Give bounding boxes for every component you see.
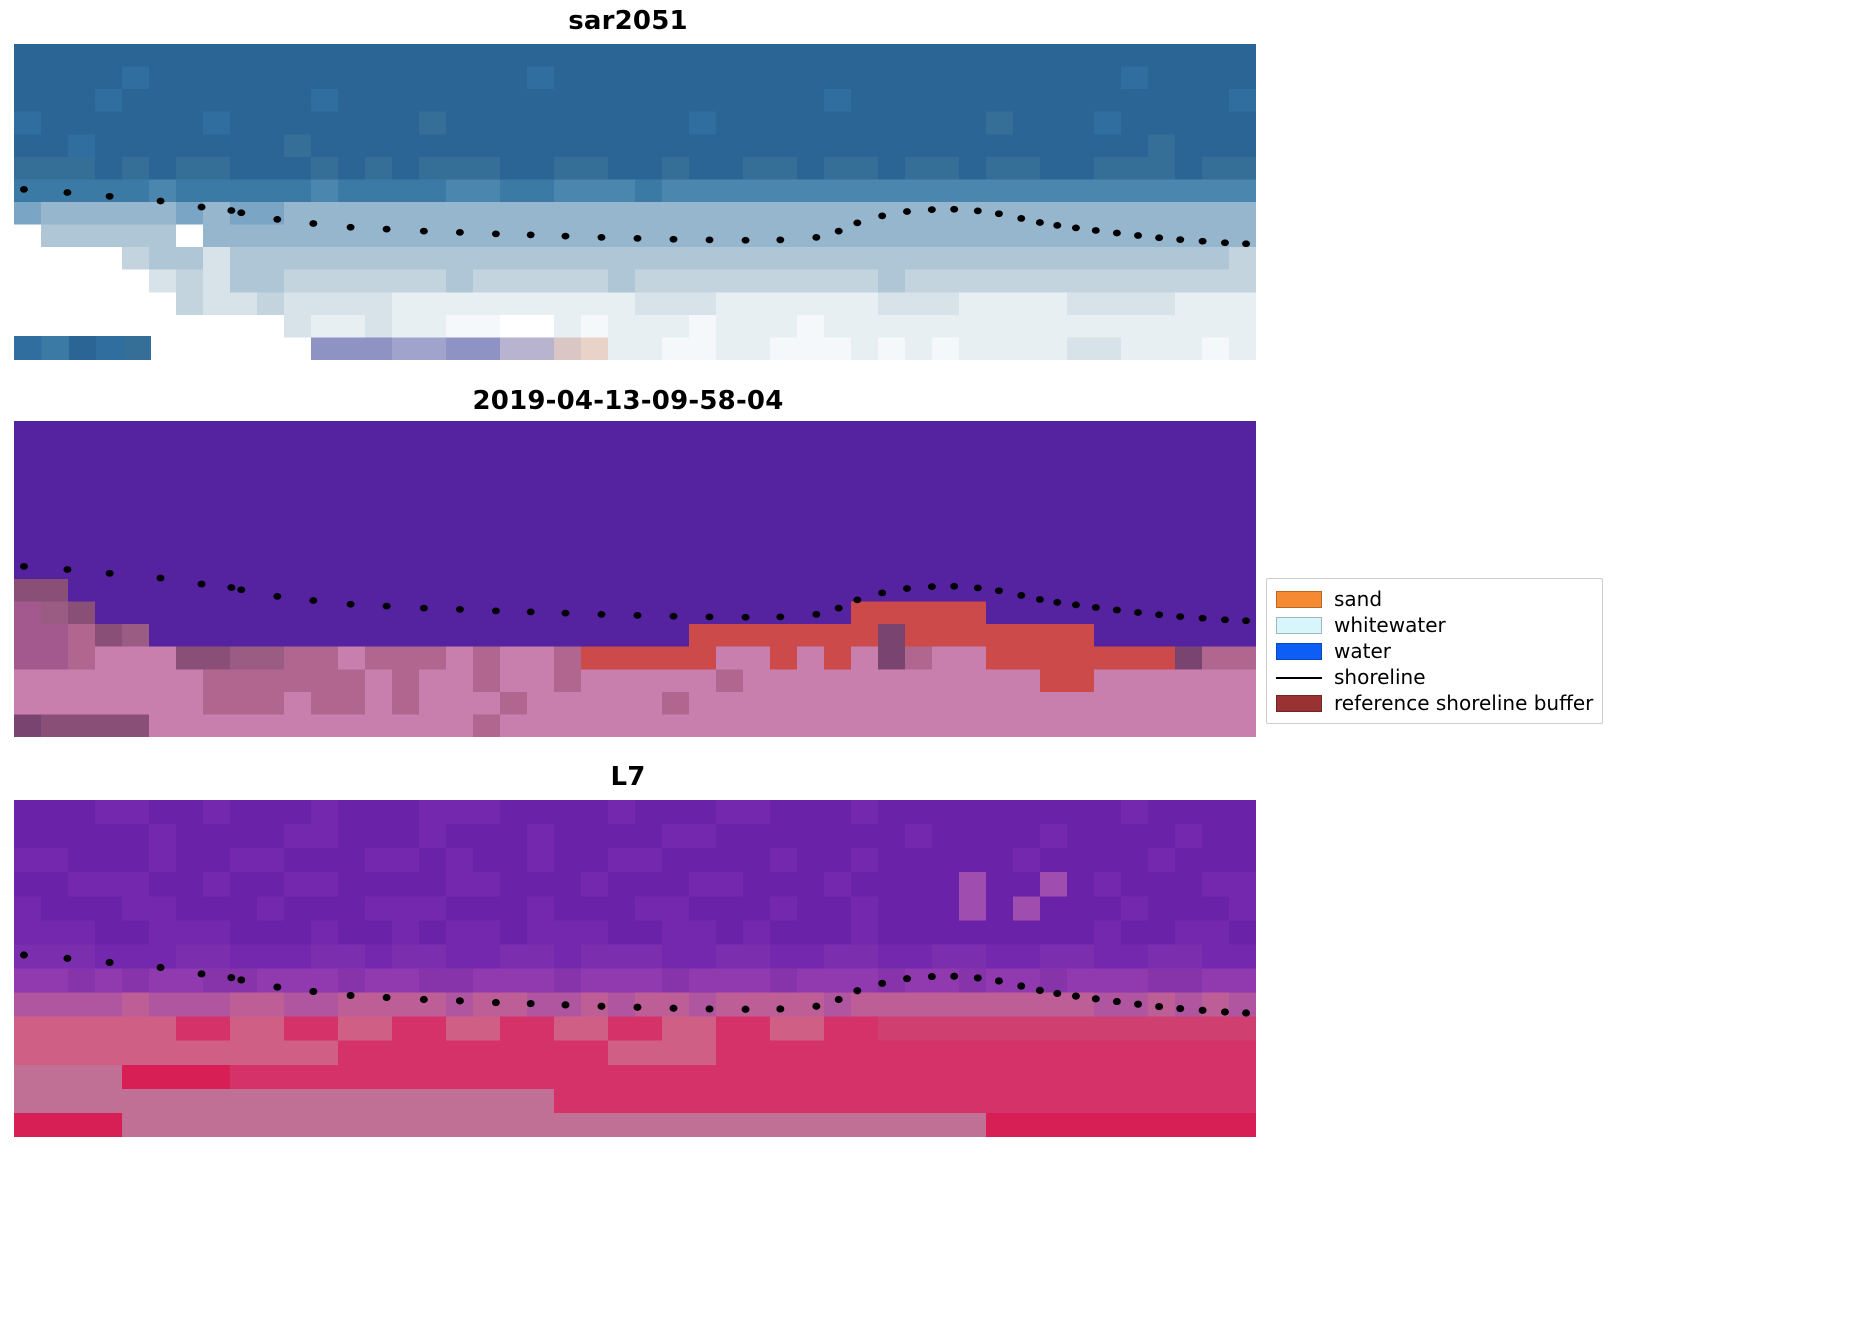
panel-title-l7: L7 — [0, 762, 1256, 792]
legend-swatch-whitewater — [1276, 617, 1322, 634]
legend-label-reference-shoreline-buffer: reference shoreline buffer — [1334, 692, 1593, 714]
legend-label-shoreline: shoreline — [1334, 666, 1426, 688]
figure-canvas: sar2051 2019-04-13-09-58-04 L7 — [0, 0, 1856, 1337]
legend-item-reference-shoreline-buffer: reference shoreline buffer — [1276, 690, 1593, 716]
raster-l7 — [14, 800, 1256, 1137]
legend-item-whitewater: whitewater — [1276, 612, 1593, 638]
legend-item-sand: sand — [1276, 586, 1593, 612]
legend-item-shoreline: shoreline — [1276, 664, 1593, 690]
legend-swatch-shoreline — [1276, 677, 1322, 679]
legend-box: sand whitewater water shoreline referenc… — [1266, 578, 1603, 724]
legend-label-sand: sand — [1334, 588, 1382, 610]
legend-item-water: water — [1276, 638, 1593, 664]
legend-swatch-water — [1276, 643, 1322, 660]
legend-swatch-sand — [1276, 591, 1322, 608]
legend-label-water: water — [1334, 640, 1391, 662]
panel-l7: L7 — [0, 0, 1256, 1137]
legend-label-whitewater: whitewater — [1334, 614, 1446, 636]
legend-swatch-reference-shoreline-buffer — [1276, 695, 1322, 712]
